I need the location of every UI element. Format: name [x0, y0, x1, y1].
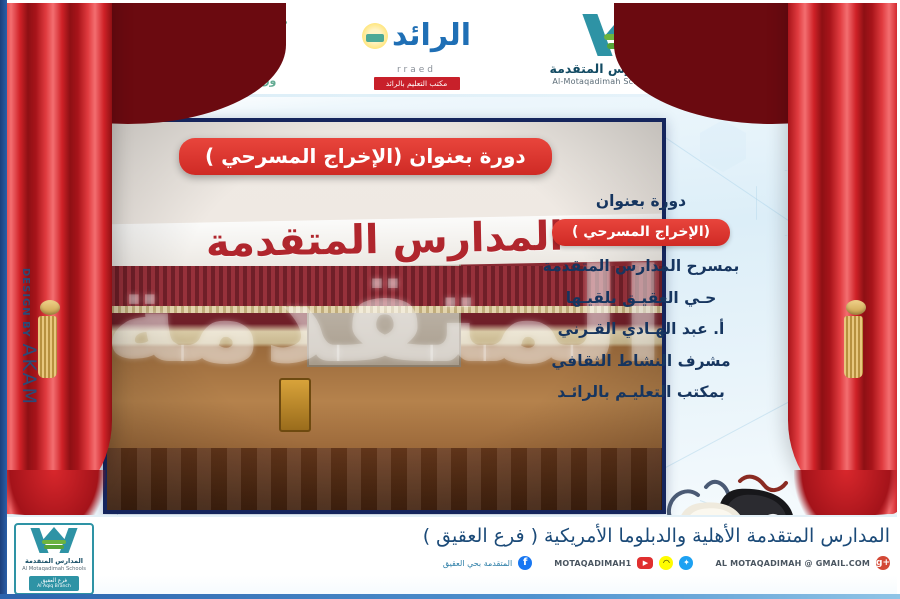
a-monogram-icon	[33, 527, 75, 553]
company-name-ar: شركة المدارس المتقدمة	[538, 61, 713, 76]
rraed-arabic: الرائد	[392, 21, 471, 51]
email-text[interactable]: AL MOTAQADIMAH @ GMAIL.COM	[715, 559, 870, 568]
details-line-role: مشرف النشاط الثقافي	[508, 354, 774, 370]
details-line-office: بمكتب التعليـم بالرائـد	[508, 385, 774, 401]
event-poster: VISION رؤية 2✳30 وزارة التعليم الرائد rr…	[0, 0, 900, 599]
poster-bottom-accent	[0, 594, 900, 599]
google-plus-icon[interactable]: g+	[876, 556, 890, 570]
rraed-tagline: مكتب التعليم بالرائد	[374, 77, 460, 90]
branch-name-en: Al Aqiq Branch	[37, 584, 71, 589]
footer-bar: المدارس المتقدمة Al Motaqadimah Schools …	[0, 515, 900, 599]
youtube-icon[interactable]: ▶	[637, 557, 653, 569]
details-course-chip: (الإخراج المسرحي )	[552, 219, 730, 246]
credit-prefix: DESIGN BY	[20, 268, 31, 337]
credit-name: AKAM	[18, 344, 40, 407]
decorative-hexagon	[22, 457, 70, 511]
details-line-venue: بمسرح المدارس المتقدمة	[508, 259, 774, 275]
designer-credit: DESIGN BY AKAM	[18, 268, 40, 406]
palm-dots-icon	[194, 11, 290, 33]
footer-logo-name-ar: المدارس المتقدمة	[25, 557, 83, 565]
details-line-presenter: أ. عبد الهـادي القـرني	[508, 322, 774, 338]
footer-school-logo: المدارس المتقدمة Al Motaqadimah Schools …	[14, 523, 94, 595]
company-name-en: Al-Motaqadimah Schools Company	[538, 77, 713, 86]
partner-logos: VISION رؤية 2✳30 وزارة التعليم الرائد rr…	[0, 0, 900, 97]
rraed-education-office-logo: الرائد rraed مكتب التعليم بالرائد	[374, 8, 460, 90]
vision-star-icon: ✳	[223, 50, 241, 74]
poster-left-accent	[0, 0, 7, 599]
poster-title-ribbon: دورة بعنوان (الإخراج المسرحي )	[179, 138, 552, 175]
vision-ministry: وزارة التعليم	[188, 75, 296, 86]
footer-branch-badge: فرع العقيق Al Aqiq Branch	[29, 576, 79, 592]
event-details-panel: دورة بعنوان (الإخراج المسرحي ) بمسرح الم…	[508, 192, 774, 417]
footer-school-title: المدارس المتقدمة الأهلية والدبلوما الأمر…	[100, 525, 890, 547]
facebook-icon[interactable]: f	[518, 556, 532, 570]
al-motaqadimah-company-logo: شركة المدارس المتقدمة Al-Motaqadimah Sch…	[538, 12, 713, 86]
vision-year: 2✳30	[188, 47, 296, 74]
twitter-icon[interactable]: ✦	[679, 556, 693, 570]
social-handle-text[interactable]: MOTAQADIMAH1	[554, 559, 631, 568]
details-lead: دورة بعنوان	[508, 192, 774, 210]
social-links: g+ AL MOTAQADIMAH @ GMAIL.COM ✦ ◠ ▶ MOTA…	[100, 556, 890, 570]
rraed-latin: rraed	[374, 65, 460, 75]
facebook-page-text[interactable]: المتقدمة بحي العقيق	[443, 559, 512, 568]
details-line-district: حـي العقيـق يلقيـها	[508, 291, 774, 307]
a-monogram-icon	[588, 12, 662, 56]
vision-2030-logo: VISION رؤية 2✳30 وزارة التعليم	[188, 11, 296, 87]
footer-logo-name-en: Al Motaqadimah Schools	[22, 566, 86, 572]
snapchat-icon[interactable]: ◠	[659, 556, 673, 570]
curtain-tassel-right	[840, 300, 866, 386]
footer-content: المدارس المتقدمة الأهلية والدبلوما الأمر…	[100, 525, 890, 570]
sunrise-icon	[362, 23, 388, 49]
